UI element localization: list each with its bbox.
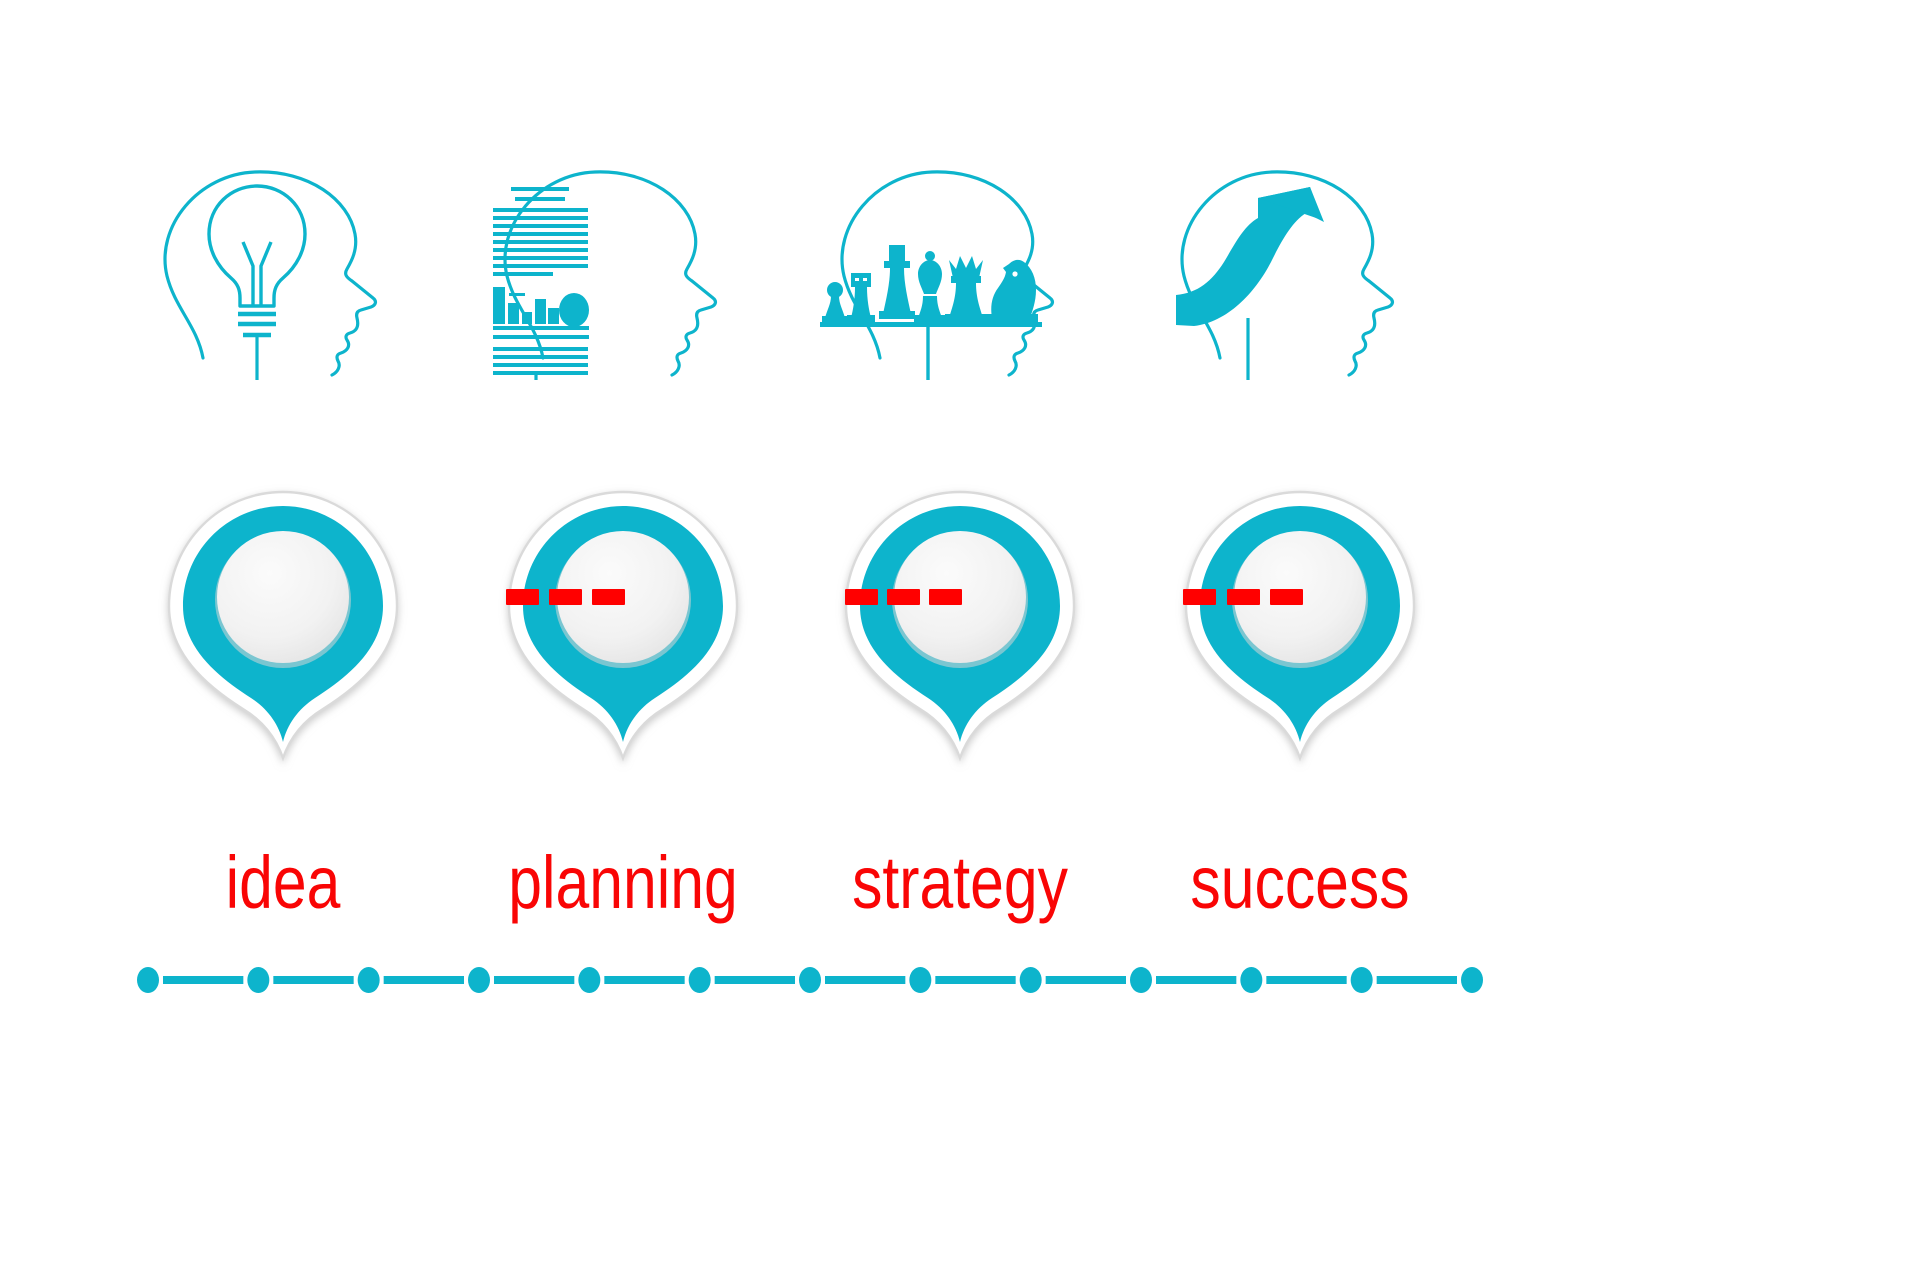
step-label-strategy: strategy [788, 835, 1132, 931]
infographic-canvas: idea planning strategy success [0, 0, 1920, 1280]
step-label-success: success [1128, 835, 1472, 931]
timeline-segment [163, 976, 243, 984]
dash-segment [929, 589, 962, 605]
connector-idea-planning [506, 589, 625, 605]
timeline-segment [825, 976, 905, 984]
connector-planning-strategy [845, 589, 962, 605]
timeline-segment [273, 976, 353, 984]
dash-segment [1270, 589, 1303, 605]
timeline-segment [715, 976, 795, 984]
pin-marker-success[interactable] [1150, 470, 1450, 830]
dash-segment [506, 589, 539, 605]
timeline-dot [1461, 967, 1483, 993]
step-labels-row: idea planning strategy success [0, 835, 1920, 945]
timeline-segment [1377, 976, 1457, 984]
pin-marker-strategy[interactable] [810, 470, 1110, 830]
dash-segment [845, 589, 878, 605]
timeline-dot [358, 967, 380, 993]
timeline-segment [604, 976, 684, 984]
dash-segment [592, 589, 625, 605]
timeline-segment [384, 976, 464, 984]
timeline-segment [1156, 976, 1236, 984]
dash-segment [887, 589, 920, 605]
timeline-dot [578, 967, 600, 993]
timeline-segment [1046, 976, 1126, 984]
connector-strategy-success [1183, 589, 1303, 605]
timeline-svg [0, 955, 1920, 1005]
timeline-dot [799, 967, 821, 993]
dash-segment [549, 589, 582, 605]
timeline-dot [468, 967, 490, 993]
step-label-idea: idea [111, 835, 455, 931]
dash-segment [1227, 589, 1260, 605]
pin-marker-idea[interactable] [133, 470, 433, 830]
timeline-dot [1240, 967, 1262, 993]
timeline-segment [494, 976, 574, 984]
timeline-dot [137, 967, 159, 993]
head-icons-row [0, 150, 1920, 380]
dash-segment [1183, 589, 1216, 605]
head-icon-success [1150, 150, 1450, 380]
bottom-timeline [0, 955, 1920, 1005]
head-icon-idea [133, 150, 433, 380]
pin-marker-planning[interactable] [473, 470, 773, 830]
timeline-dot [1351, 967, 1373, 993]
timeline-segment [935, 976, 1015, 984]
head-icon-strategy [810, 150, 1110, 380]
timeline-dot [1130, 967, 1152, 993]
pin-markers-row [0, 470, 1920, 830]
timeline-dot [909, 967, 931, 993]
step-label-planning: planning [451, 835, 795, 931]
timeline-segment [1266, 976, 1346, 984]
timeline-dot [689, 967, 711, 993]
head-icon-planning [473, 150, 773, 380]
timeline-dot [1020, 967, 1042, 993]
timeline-dot [247, 967, 269, 993]
